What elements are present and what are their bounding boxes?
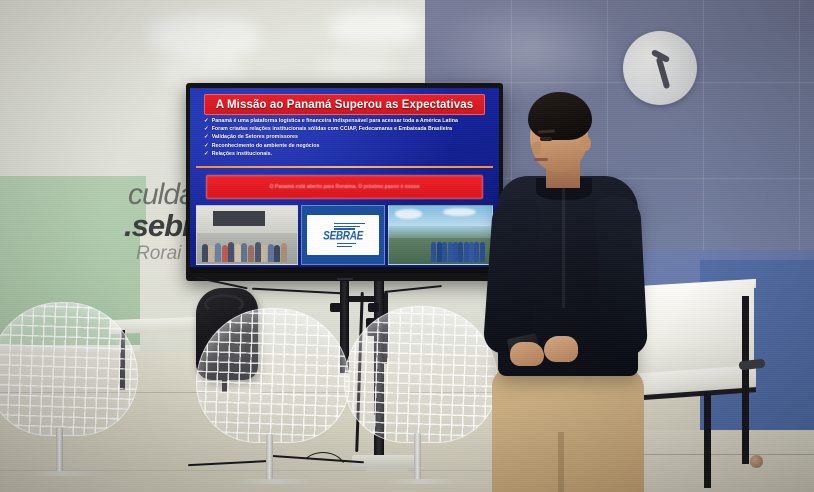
check-icon: ✓ — [204, 150, 209, 158]
chair-foot — [238, 479, 310, 484]
slide-photo-strip: SEBRAE — [196, 205, 493, 265]
tv-brand-logo — [337, 278, 353, 280]
chair-stem — [414, 433, 421, 480]
presenter-eye — [540, 137, 552, 141]
sebrae-logo: SEBRAE — [307, 215, 379, 256]
slide-bullet-text: Validação de Setores promissores — [212, 133, 298, 141]
check-icon: ✓ — [204, 117, 209, 125]
presenter-mouth — [534, 158, 548, 161]
chair-seat — [0, 302, 138, 436]
presenter-trouser-seam — [558, 432, 564, 492]
tv-bezel-bottom — [190, 267, 499, 273]
photo-scene: culda .sebr Rorai A Missão ao Panamá Sup… — [0, 0, 814, 492]
presenter-hand-left — [510, 342, 544, 366]
check-icon: ✓ — [204, 125, 209, 133]
acrylic-chair — [0, 302, 136, 480]
table-caster-wheel — [750, 455, 763, 468]
presenter-ear — [580, 136, 591, 151]
wall-sign-line1: culda — [128, 178, 195, 212]
presenter-arm-right — [594, 195, 648, 357]
slide-bullet: ✓ Relações institucionais. — [204, 150, 491, 158]
wall-sign-line3: Rorai — [136, 243, 181, 265]
sebrae-wordmark: SEBRAE — [323, 230, 363, 243]
chair-stem — [266, 434, 273, 481]
presenter-zipper — [562, 188, 565, 308]
slide-bullet: ✓ Validação de Setores promissores — [204, 133, 491, 141]
sebrae-bars-icon — [337, 243, 369, 247]
slide-photo-sebrae-logo: SEBRAE — [301, 205, 385, 265]
chair-foot — [28, 471, 98, 476]
chair-foot — [386, 479, 458, 484]
slide-divider — [196, 166, 493, 168]
slide-bullet-text: Foram criadas relações institucionais só… — [212, 125, 452, 133]
check-icon: ✓ — [204, 142, 209, 150]
acrylic-chair — [196, 308, 348, 488]
slide-bullet-list: ✓ Panamá é uma plataforma logística e fi… — [204, 117, 491, 158]
table-leg — [742, 296, 749, 464]
slide-banner: O Panamá está aberto para Roraima. O pró… — [206, 175, 483, 199]
television[interactable]: A Missão ao Panamá Superou as Expectativ… — [186, 83, 503, 281]
chair-seat — [196, 308, 350, 443]
slide-bullet: ✓ Reconhecimento do ambiente de negócios — [204, 142, 491, 150]
wall-glare — [150, 14, 260, 58]
wall-glare — [330, 8, 420, 46]
presenter-trousers — [492, 368, 644, 492]
presenter-hand-right — [544, 336, 578, 362]
table-leg — [704, 392, 711, 488]
slide-title: A Missão ao Panamá Superou as Expectativ… — [204, 94, 485, 115]
presenter — [470, 92, 660, 492]
presenter-nose — [532, 142, 541, 155]
slide-bullet: ✓ Panamá é uma plataforma logística e fi… — [204, 117, 491, 125]
slide-photo-group-indoor — [196, 205, 298, 265]
wall-glare — [158, 56, 244, 86]
tv-screen[interactable]: A Missão ao Panamá Superou as Expectativ… — [190, 88, 499, 273]
slide-bullet-text: Panamá é uma plataforma logística e fina… — [212, 117, 458, 125]
chair-stem — [56, 427, 63, 473]
wall-sign-line2: .sebr — [124, 208, 193, 244]
slide-bullet-text: Relações institucionais. — [212, 150, 272, 158]
slide-bullet: ✓ Foram criadas relações institucionais … — [204, 125, 491, 133]
slide-bullet-text: Reconhecimento do ambiente de negócios — [212, 142, 320, 150]
check-icon: ✓ — [204, 133, 209, 141]
sebrae-bars-icon — [334, 223, 366, 230]
wall-glare — [318, 52, 396, 80]
